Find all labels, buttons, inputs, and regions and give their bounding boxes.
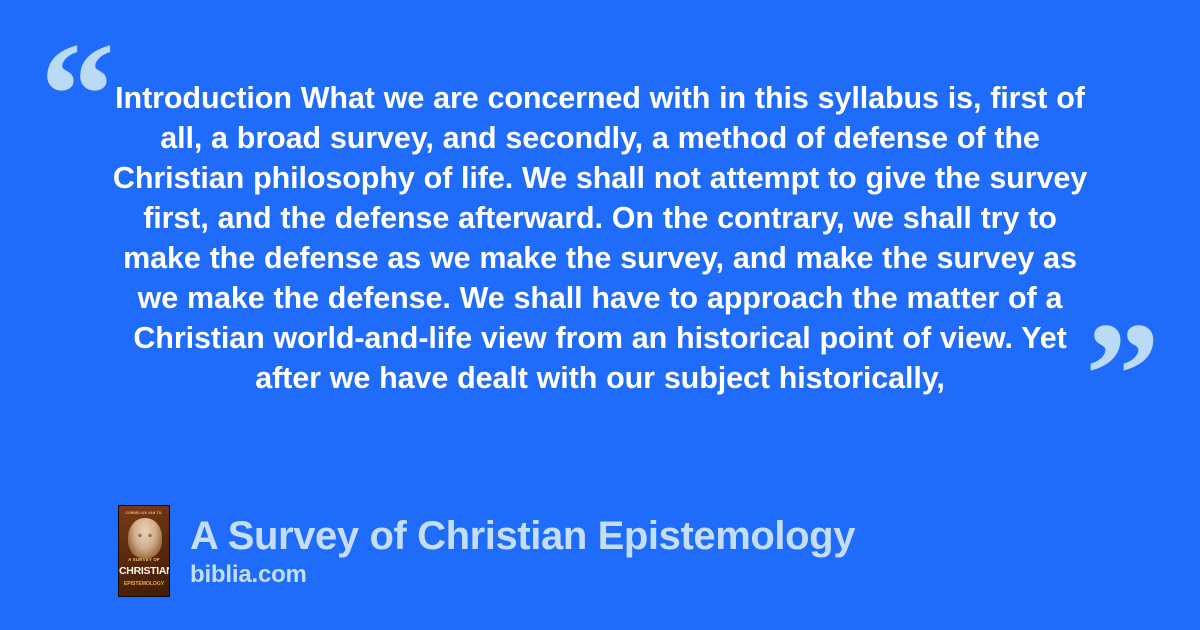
footer: CORNELIUS VAN TIL A SURVEY OF CHRISTIAN …: [118, 505, 855, 597]
source-label[interactable]: biblia.com: [190, 561, 855, 589]
book-cover-line-3: EPISTEMOLOGY: [119, 582, 169, 587]
quote-text: Introduction What we are concerned with …: [110, 78, 1090, 398]
quote-block: Introduction What we are concerned with …: [110, 78, 1090, 398]
quote-card: “ Introduction What we are concerned wit…: [0, 0, 1200, 630]
book-title: A Survey of Christian Epistemology: [190, 513, 855, 559]
book-cover-author: CORNELIUS VAN TIL: [119, 511, 169, 515]
opening-quote-icon: “: [40, 20, 113, 170]
closing-quote-icon: ”: [1085, 300, 1158, 450]
book-cover-portrait: [128, 518, 162, 558]
book-cover-thumbnail[interactable]: CORNELIUS VAN TIL A SURVEY OF CHRISTIAN …: [118, 505, 170, 597]
footer-text-group: A Survey of Christian Epistemology bibli…: [190, 513, 855, 589]
book-cover-line-2: CHRISTIAN: [119, 566, 169, 577]
book-cover-line-1: A SURVEY OF: [119, 558, 169, 562]
